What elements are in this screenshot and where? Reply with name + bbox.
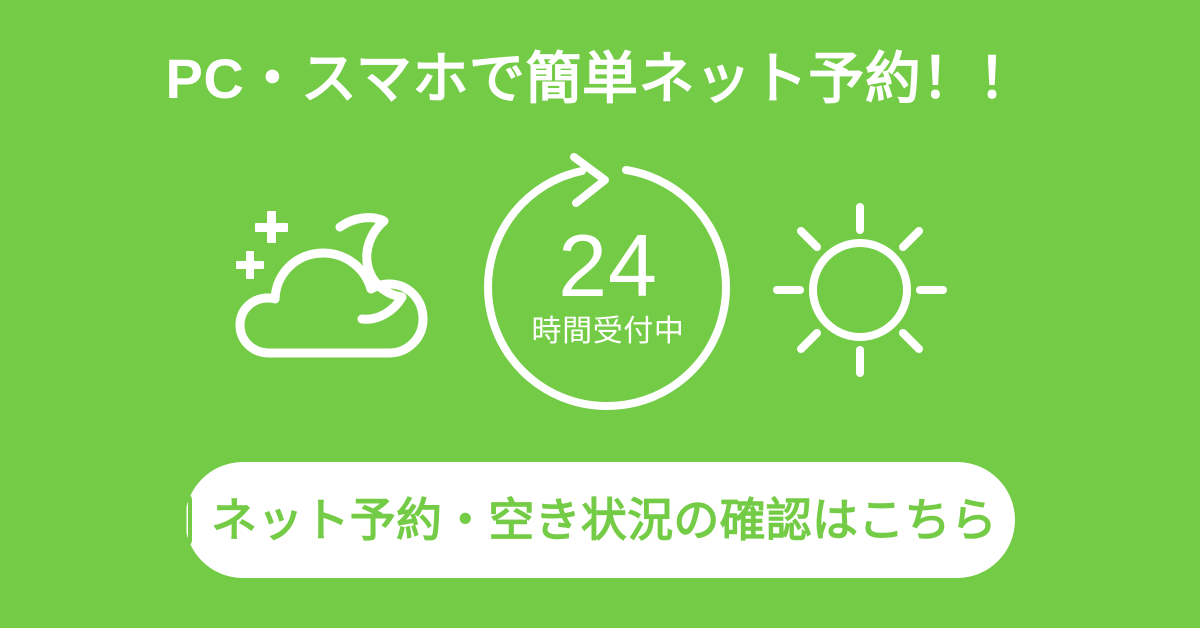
clock-label: 時間受付中 [478, 317, 738, 347]
cta-label: ネット予約・空き状況の確認はこちら [211, 497, 997, 543]
reservation-cta-button[interactable]: ネット予約・空き状況の確認はこちら ▶ [185, 462, 1015, 578]
24-hour-circular-arrow-icon: 24 時間受付中 [478, 150, 738, 415]
reservation-banner: PC・スマホで簡単ネット予約！！ [0, 0, 1200, 628]
night-cloud-moon-icon [228, 205, 438, 370]
sun-icon [762, 202, 958, 377]
page-title: PC・スマホで簡単ネット予約！！ [0, 48, 1200, 110]
cta-content: ネット予約・空き状況の確認はこちら ▶ [159, 492, 1041, 548]
chevron-right-icon: ▶ [1021, 507, 1041, 533]
icon-row: 24 時間受付中 [0, 150, 1200, 420]
smartphone-icon [159, 492, 193, 548]
clock-number: 24 [478, 222, 738, 310]
